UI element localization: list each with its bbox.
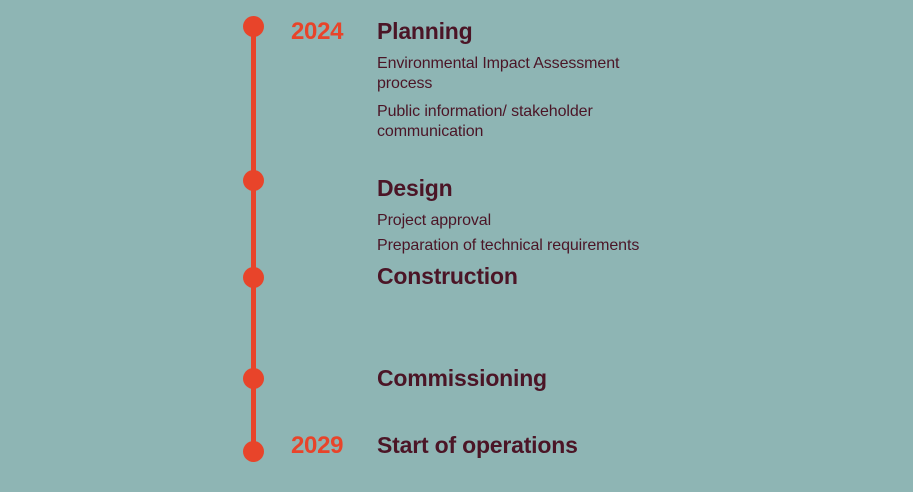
timeline-dot-planning <box>243 16 264 37</box>
timeline-dot-construction <box>243 267 264 288</box>
milestone-year-planning: 2024 <box>291 20 369 44</box>
list-item: Project approval <box>377 211 897 231</box>
milestone-title-construction: Construction <box>377 265 897 288</box>
timeline-dot-commissioning <box>243 368 264 389</box>
list-item: Preparation of technical requirements <box>377 236 897 256</box>
milestone-items-planning: Environmental Impact Assessment process … <box>377 54 897 142</box>
timeline-diagram: 2024 Planning Environmental Impact Asses… <box>0 0 913 492</box>
milestone-body-commissioning: Commissioning <box>377 367 897 390</box>
milestone-body-planning: Planning Environmental Impact Assessment… <box>377 20 897 142</box>
list-item: Environmental Impact Assessment process <box>377 54 667 94</box>
timeline-connector-line <box>251 27 256 452</box>
timeline-dot-start-of-operations <box>243 441 264 462</box>
milestone-title-commissioning: Commissioning <box>377 367 897 390</box>
milestone-body-construction: Construction <box>377 265 897 288</box>
milestone-items-design: Project approval Preparation of technica… <box>377 211 897 256</box>
milestone-title-design: Design <box>377 177 897 200</box>
milestone-body-start-of-operations: Start of operations <box>377 434 897 457</box>
milestone-title-start-of-operations: Start of operations <box>377 434 897 457</box>
milestone-year-start-of-operations: 2029 <box>291 434 369 458</box>
milestone-title-planning: Planning <box>377 20 897 43</box>
milestone-body-design: Design Project approval Preparation of t… <box>377 177 897 256</box>
timeline-dot-design <box>243 170 264 191</box>
list-item: Public information/ stakeholder communic… <box>377 102 667 142</box>
